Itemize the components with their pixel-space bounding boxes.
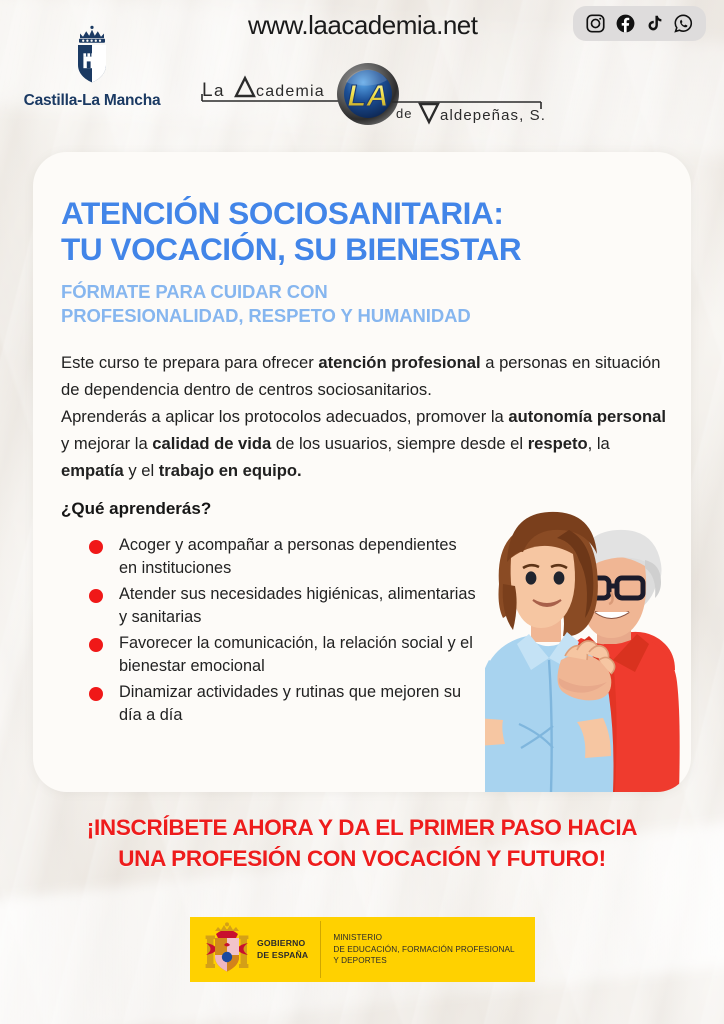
region-logo: Castilla-La Mancha — [22, 24, 162, 110]
page-title: ATENCIÓN SOCIOSANITARIA: TU VOCACIÓN, SU… — [61, 196, 671, 267]
spain-coat-of-arms-icon — [204, 921, 250, 978]
region-logo-label: Castilla-La Mancha — [22, 92, 162, 110]
gobierno-de-espana-block: GOBIERNO DE ESPAÑA — [190, 917, 320, 982]
facebook-icon[interactable] — [615, 13, 636, 34]
svg-text:L: L — [202, 80, 214, 101]
castilla-la-mancha-shield-icon — [22, 24, 162, 88]
ministerio-label-line-1: MINISTERIO — [333, 932, 514, 944]
gobierno-label-line-2: DE ESPAÑA — [257, 950, 308, 961]
page-title-line-1: ATENCIÓN SOCIOSANITARIA: — [61, 195, 503, 231]
learn-heading: ¿Qué aprenderás? — [61, 499, 211, 519]
page-title-line-2: TU VOCACIÓN, SU BIENESTAR — [61, 232, 671, 268]
description-emphasis: trabajo en equipo. — [159, 461, 302, 480]
ministerio-label-line-3: Y DEPORTES — [333, 955, 514, 967]
whatsapp-icon[interactable] — [673, 13, 694, 34]
svg-text:aldepeñas, S.L.: aldepeñas, S.L. — [440, 107, 546, 124]
page-subtitle-line-2: PROFESIONALIDAD, RESPETO Y HUMANIDAD — [61, 304, 671, 328]
description-text: , la — [588, 434, 610, 453]
description-emphasis: respeto — [528, 434, 588, 453]
description-emphasis: atención profesional — [318, 353, 480, 372]
main-content-card: ATENCIÓN SOCIOSANITARIA: TU VOCACIÓN, SU… — [33, 152, 691, 792]
svg-text:a: a — [214, 81, 224, 100]
poster-root: Castilla-La Mancha www.laacademia.net — [0, 0, 724, 1024]
description-emphasis: autonomía personal — [508, 407, 666, 426]
ministerio-label: MINISTERIO DE EDUCACIÓN, FORMACIÓN PROFE… — [321, 932, 514, 967]
cta-line-1: ¡INSCRÍBETE AHORA Y DA EL PRIMER PASO HA… — [87, 815, 638, 840]
gobierno-label: GOBIERNO DE ESPAÑA — [257, 938, 308, 960]
tiktok-icon[interactable] — [645, 13, 664, 34]
page-subtitle: FÓRMATE PARA CUIDAR CON PROFESIONALIDAD,… — [61, 280, 671, 327]
description-text: de los usuarios, siempre desde el — [271, 434, 527, 453]
description-text: y el — [124, 461, 159, 480]
description-text: Aprenderás a aplicar los protocolos adec… — [61, 407, 508, 426]
academy-logo: L a cademia LA de aldepeñas, S.L. — [196, 62, 546, 128]
gobierno-label-line-1: GOBIERNO — [257, 938, 308, 949]
description-text: Este curso te prepara para ofrecer — [61, 353, 318, 372]
list-item: Dinamizar actividades y rutinas que mejo… — [89, 681, 479, 728]
caregiver-and-elderly-person-illustration — [485, 500, 691, 792]
cta-line-2: UNA PROFESIÓN CON VOCACIÓN Y FUTURO! — [0, 843, 724, 874]
social-links-group — [573, 6, 706, 41]
svg-text:LA: LA — [347, 78, 388, 113]
learning-outcomes-list: Acoger y acompañar a personas dependient… — [89, 534, 479, 730]
svg-text:de: de — [396, 106, 412, 121]
poster-header: Castilla-La Mancha www.laacademia.net — [0, 0, 724, 140]
instagram-icon[interactable] — [585, 13, 606, 34]
list-item: Acoger y acompañar a personas dependient… — [89, 534, 479, 581]
list-item: Favorecer la comunicación, la relación s… — [89, 632, 479, 679]
list-item: Atender sus necesidades higiénicas, alim… — [89, 583, 479, 630]
svg-text:cademia: cademia — [256, 83, 325, 100]
course-description: Este curso te prepara para ofrecer atenc… — [61, 350, 675, 484]
description-text: y mejorar la — [61, 434, 152, 453]
ministry-logo-bar: GOBIERNO DE ESPAÑA MINISTERIO DE EDUCACI… — [190, 917, 535, 982]
description-emphasis: empatía — [61, 461, 124, 480]
call-to-action: ¡INSCRÍBETE AHORA Y DA EL PRIMER PASO HA… — [0, 812, 724, 874]
description-emphasis: calidad de vida — [152, 434, 271, 453]
page-subtitle-line-1: FÓRMATE PARA CUIDAR CON — [61, 281, 328, 302]
website-url[interactable]: www.laacademia.net — [248, 10, 477, 41]
ministerio-label-line-2: DE EDUCACIÓN, FORMACIÓN PROFESIONAL — [333, 944, 514, 956]
